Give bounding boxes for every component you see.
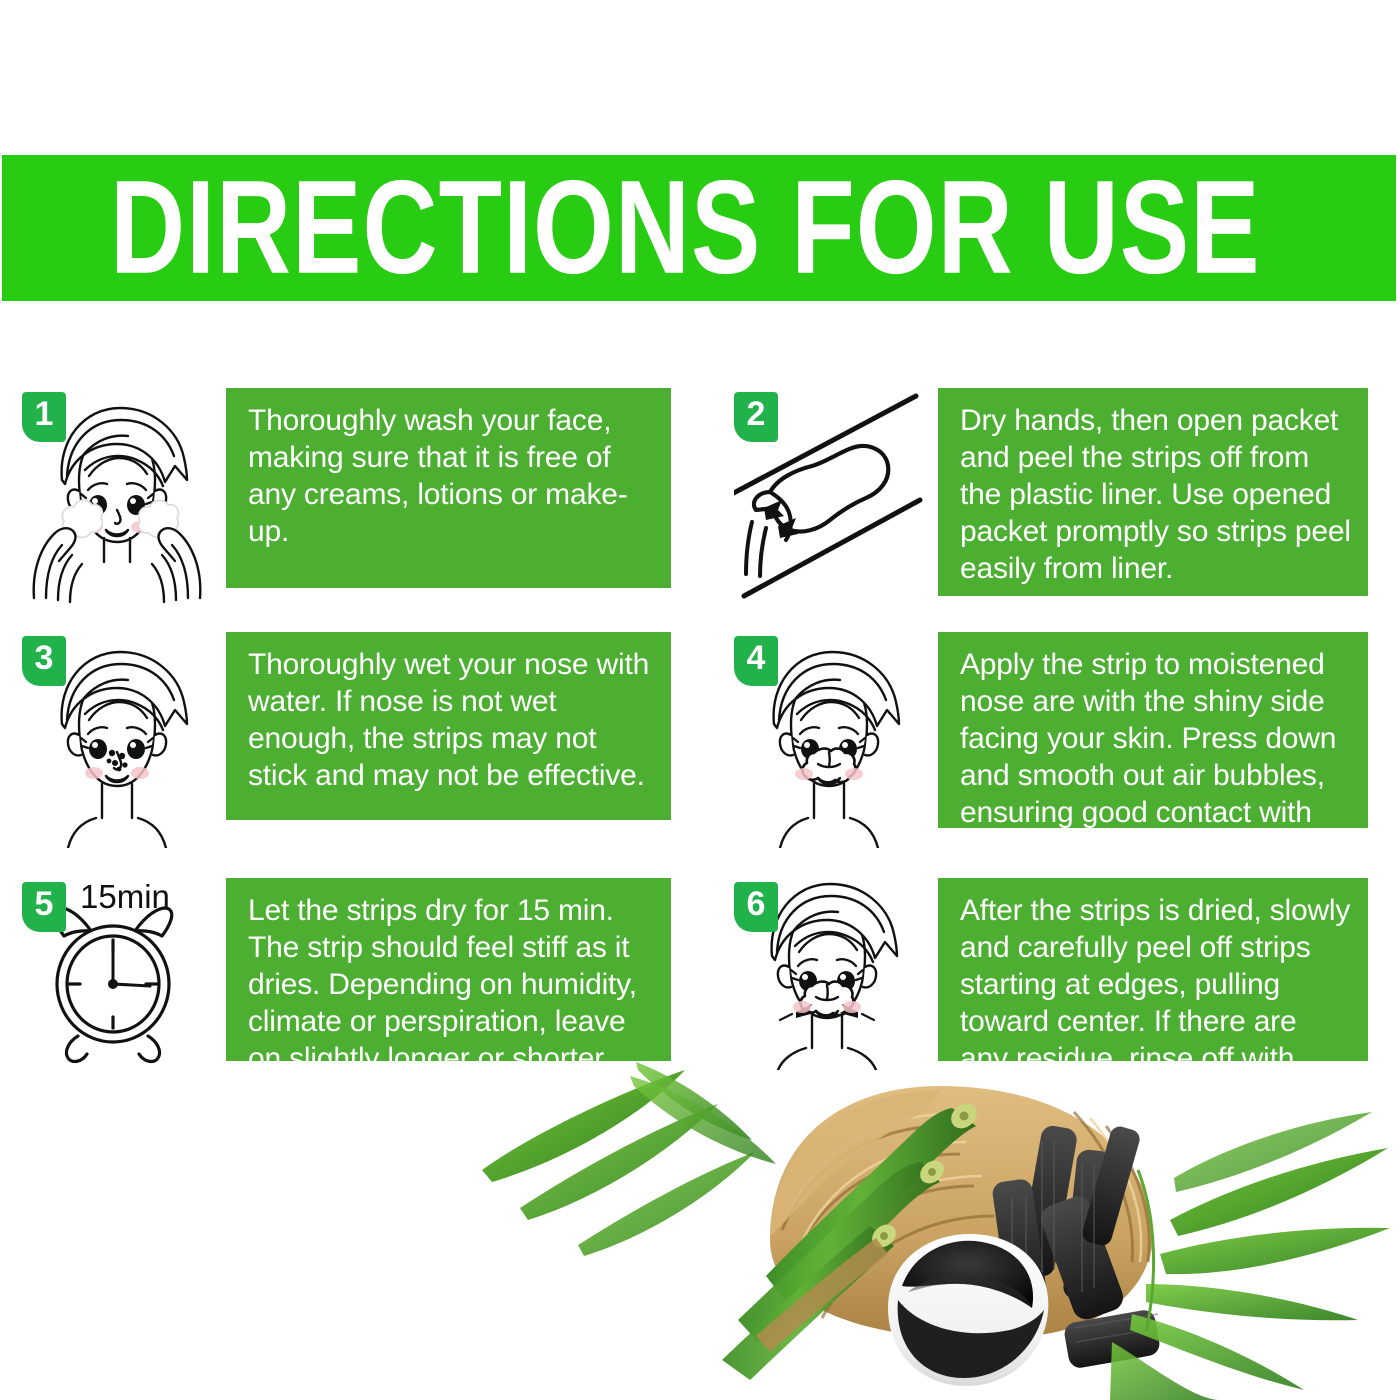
step-panel-2: 2 — [700, 388, 1400, 632]
page-title: DIRECTIONS FOR USE — [110, 161, 1261, 294]
step-1-text: Thoroughly wash your face, making sure t… — [226, 388, 671, 588]
steps-container: 1 — [0, 388, 1400, 1093]
step-badge-4: 4 — [734, 636, 778, 686]
bamboo-charcoal-basket-photo — [470, 1030, 1400, 1400]
step-2-figure: 2 — [734, 388, 924, 604]
step-panel-3: 3 — [0, 632, 700, 878]
step-badge-5: 5 — [22, 882, 66, 932]
step-badge-6: 6 — [734, 882, 778, 932]
step-panel-1: 1 — [0, 388, 700, 632]
step-3-text: Thoroughly wet your nose with water. If … — [226, 632, 671, 820]
step-5-figure: 5 15min — [22, 878, 212, 1070]
bamboo-leaves-right — [1110, 1112, 1390, 1400]
step-4-text: Apply the strip to moistened nose are wi… — [938, 632, 1368, 828]
bamboo-leaves-left — [482, 1062, 755, 1256]
white-bowl-with-charcoal-powder — [888, 1234, 1048, 1386]
steps-row-1: 1 — [0, 388, 1400, 632]
step-panel-4: 4 — [700, 632, 1400, 878]
step-3-figure: 3 — [22, 632, 212, 848]
step-badge-2: 2 — [734, 392, 778, 442]
step-2-text: Dry hands, then open packet and peel the… — [938, 388, 1368, 596]
step-1-figure: 1 — [22, 388, 212, 604]
step-badge-3: 3 — [22, 636, 66, 686]
steps-row-2: 3 — [0, 632, 1400, 878]
step-4-figure: 4 — [734, 632, 924, 848]
directions-for-use-page: DIRECTIONS FOR USE 1 — [0, 0, 1400, 1400]
header-banner: DIRECTIONS FOR USE — [2, 155, 1396, 301]
step-badge-1: 1 — [22, 392, 66, 442]
